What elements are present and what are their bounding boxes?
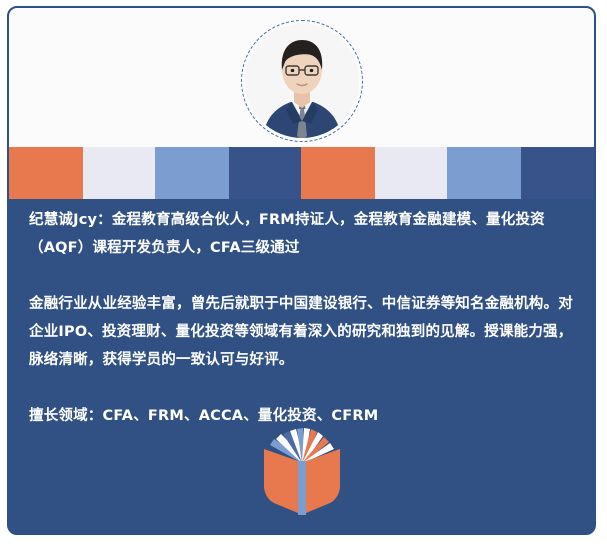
instructor-profile-card: 纪慧诚Jcy：金程教育高级合伙人，FRM持证人，金程教育金融建模、量化投资（AQ…	[7, 6, 596, 535]
profile-paragraph-0: 纪慧诚Jcy：金程教育高级合伙人，FRM持证人，金程教育金融建模、量化投资（AQ…	[29, 206, 578, 262]
stripe-segment-1-lavender	[83, 147, 156, 199]
open-book-icon	[250, 423, 354, 517]
profile-paragraph-1: 金融行业从业经验丰富，曾先后就职于中国建设银行、中信证券等知名金融机构。对企业I…	[29, 290, 578, 374]
avatar-photo	[245, 24, 359, 138]
avatar	[241, 20, 363, 142]
stripe-segment-3-navy	[229, 147, 302, 199]
color-stripe-band	[9, 147, 594, 199]
card-header	[9, 8, 594, 147]
stripe-segment-5-lavender	[375, 147, 448, 199]
stripe-segment-2-light-blue	[155, 147, 229, 199]
stripe-segment-6-light-blue	[447, 147, 521, 199]
profile-text: 纪慧诚Jcy：金程教育高级合伙人，FRM持证人，金程教育金融建模、量化投资（AQ…	[29, 206, 578, 430]
stripe-segment-4-orange	[301, 147, 375, 199]
stripe-segment-0-orange	[9, 147, 83, 199]
stripe-segment-7-navy	[521, 147, 595, 199]
